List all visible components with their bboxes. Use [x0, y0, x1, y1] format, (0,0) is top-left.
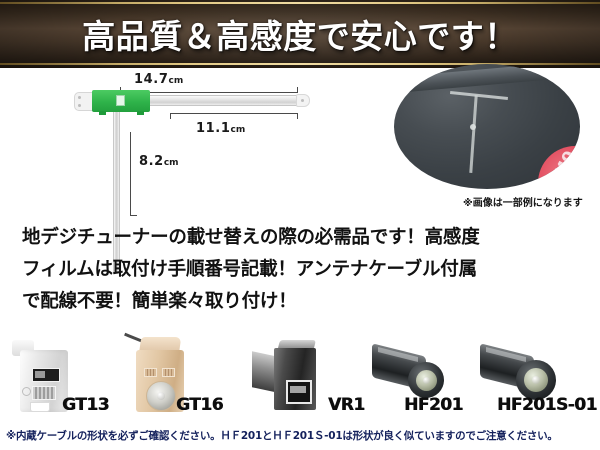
- dimension-label-total-width: 14.7cm: [134, 72, 183, 87]
- description-line-3: で配線不要！簡単楽々取り付け！: [22, 286, 588, 318]
- gt13-notch: [30, 402, 50, 412]
- photo-caption: ※画像は一部例になります: [463, 194, 583, 209]
- dimension-label-bar-width: 11.1cm: [196, 121, 245, 136]
- dimension-value-cable-length: 8.2: [139, 154, 164, 169]
- description-line-2: フィルムは取付け手順番号記載！アンテナケーブル付属: [22, 254, 588, 286]
- gt16-cable: [124, 333, 142, 343]
- vr1-port-contact: [290, 386, 306, 393]
- mount-pad-hole-top: [78, 96, 81, 99]
- antenna-film-dimension-diagram: 14.7cm 11.1cm 8.2cm: [0, 68, 340, 218]
- mount-pad-hole-bottom: [78, 104, 81, 107]
- installed-antenna-horizontal: [450, 91, 508, 100]
- gt16-slot-right: [162, 368, 175, 377]
- dimension-value-total-width: 14.7: [134, 72, 168, 87]
- product-banner: 高品質＆高感度で安心です！ 14.7cm 11.1cm 8.2cm: [0, 0, 600, 450]
- vr1-connector-image: [252, 334, 324, 416]
- antenna-film-chip: [116, 95, 125, 106]
- description-text-block: 地デジチューナーの載せ替えの際の必需品です！高感度 フィルムは取付け手順番号記載…: [22, 222, 588, 318]
- gt13-port-contact: [35, 371, 45, 378]
- footer-warning-note: ※内蔵ケーブルの形状を必ずご確認ください。ＨＦ201とＨＦ201Ｓ-01は形状が…: [6, 428, 596, 443]
- connector-label-gt16: GT16: [176, 395, 223, 415]
- description-line-1: 地デジチューナーの載せ替えの際の必需品です！高感度: [22, 222, 588, 254]
- hf201-coax-pin: [423, 377, 430, 384]
- antenna-mount-pad: [74, 92, 94, 111]
- connector-label-gt13: GT13: [62, 395, 109, 415]
- windshield-installation-photo: 9/40: [394, 64, 580, 189]
- hf201s01-coax-pin: [532, 376, 540, 384]
- connector-label-hf201: HF201: [404, 395, 463, 415]
- dimension-bracket-cable-length: [130, 132, 137, 216]
- gt13-alignment-ring: [22, 387, 31, 396]
- antenna-film-endcap-hole: [301, 99, 304, 102]
- dimension-label-cable-length: 8.2cm: [139, 154, 179, 169]
- dimension-unit-total-width: cm: [168, 76, 183, 86]
- antenna-film-tab-right: [137, 111, 144, 115]
- gt13-metal-shield: [32, 386, 56, 400]
- dimension-bracket-bar-width: [170, 113, 298, 119]
- antenna-film-tab-left: [99, 111, 106, 115]
- connector-label-hf201s01: HF201S-01: [497, 395, 597, 415]
- installed-antenna-vertical: [469, 95, 477, 173]
- installed-antenna-connector: [470, 124, 476, 130]
- windshield-edge: [394, 64, 580, 94]
- dimension-unit-cable-length: cm: [164, 158, 179, 168]
- dimension-value-bar-width: 11.1: [196, 121, 230, 136]
- gt16-slot-left: [144, 368, 157, 377]
- connector-label-vr1: VR1: [328, 395, 365, 415]
- connector-type-row: GT13 GT16 VR1 HF201: [0, 330, 600, 422]
- gt16-coax-pin: [157, 392, 165, 400]
- header-title: 高品質＆高感度で安心です！: [0, 0, 600, 68]
- dimension-unit-bar-width: cm: [230, 125, 245, 135]
